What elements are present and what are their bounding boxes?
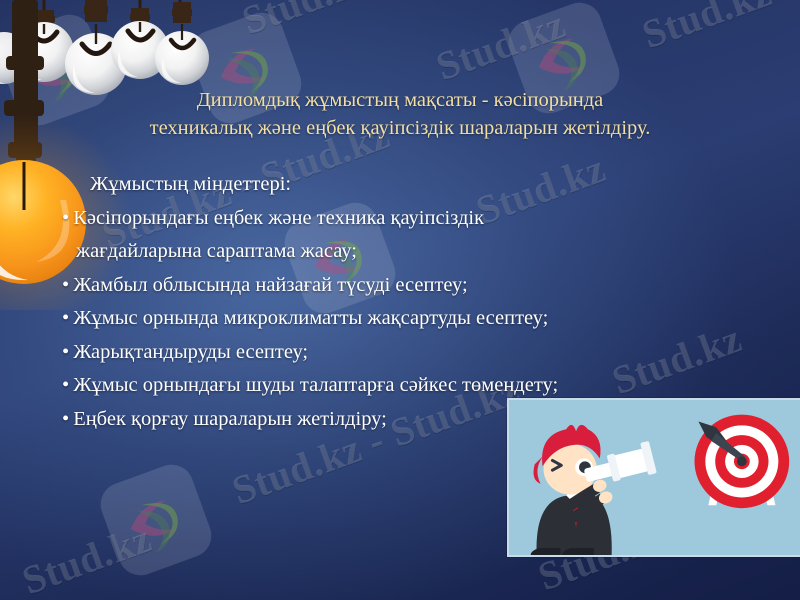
body-bullet-3: •Жұмыс орнында микроклиматты жақсартуды … — [62, 302, 762, 336]
body-bullet-text: Жамбыл облысында найзағай түсуді есептеу… — [73, 274, 468, 296]
watermark-logo-icon — [94, 458, 217, 581]
bullet-marker-icon: • — [62, 341, 69, 363]
body-bullet-1: •Кәсіпорындағы еңбек және техника қауіпс… — [62, 202, 762, 236]
bullet-marker-icon: • — [62, 307, 69, 329]
body-bullet-4: •Жарықтандыруды есептеу; — [62, 336, 762, 370]
body-bullet-text: Жарықтандыруды есептеу; — [73, 341, 308, 363]
body-bullet-2: •Жамбыл облысында найзағай түсуді есепте… — [62, 269, 762, 303]
bullet-marker-icon: • — [62, 207, 69, 229]
watermark-text: Stud.kz — [636, 0, 778, 58]
body-bullet-text: Жұмыс орнында микроклиматты жақсартуды е… — [73, 307, 548, 329]
body-bullet-continuation: жағдайларына сараптама жасау; — [62, 235, 762, 269]
body-lead-line: Жұмыстың міндеттері: — [62, 168, 762, 202]
watermark-text: Stud.kz — [430, 0, 572, 90]
title-line-2: техникалық және еңбек қауіпсіздік шарала… — [40, 114, 760, 142]
body-bullet-text: Еңбек қорғау шараларын жетілдіру; — [73, 408, 387, 430]
body-bullet-text: Жұмыс орнындағы шуды талаптарға сәйкес т… — [73, 374, 558, 396]
title-line-1: Дипломдық жұмыстың мақсаты - кәсіпорында — [197, 89, 604, 111]
bullet-marker-icon: • — [62, 374, 69, 396]
presentation-slide: Stud.kzStud.kzStud.kzStud.kz - Stud.kzSt… — [0, 0, 800, 600]
slide-body: Жұмыстың міндеттері: •Кәсіпорындағы еңбе… — [62, 168, 762, 436]
watermark-text: Stud.kz — [16, 514, 158, 600]
slide-title: Дипломдық жұмыстың мақсаты - кәсіпорында… — [40, 86, 760, 142]
watermark-text: Stud.kz — [236, 0, 378, 44]
bullet-marker-icon: • — [62, 274, 69, 296]
bullet-marker-icon: • — [62, 408, 69, 430]
illustration-businessman-telescope-target — [507, 398, 800, 557]
body-bullet-text: Кәсіпорындағы еңбек және техника қауіпсі… — [73, 207, 484, 229]
